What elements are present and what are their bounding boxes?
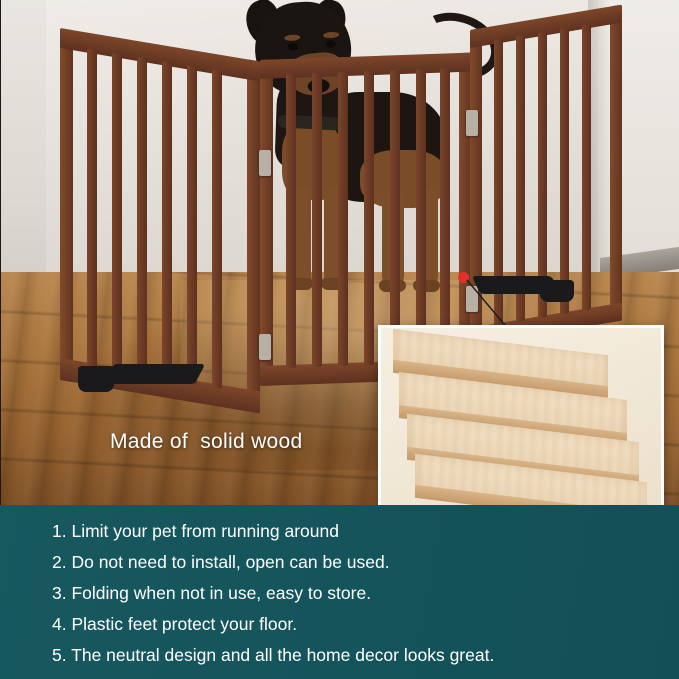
feature-list: 1. Limit your pet from running around 2.… (52, 516, 667, 671)
product-image-card: Made of solid wood (0, 0, 679, 679)
list-item: 2. Do not need to install, open can be u… (52, 547, 667, 578)
product-photo: Made of solid wood (0, 0, 679, 505)
list-item: 5. The neutral design and all the home d… (52, 640, 667, 671)
photo-caption: Made of solid wood (110, 430, 302, 454)
list-item: 3. Folding when not in use, easy to stor… (52, 578, 667, 609)
wood-closeup-inset (378, 325, 664, 505)
list-item: 1. Limit your pet from running around (52, 516, 667, 547)
list-item: 4. Plastic feet protect your floor. (52, 609, 667, 640)
feature-list-panel: 1. Limit your pet from running around 2.… (0, 505, 679, 679)
